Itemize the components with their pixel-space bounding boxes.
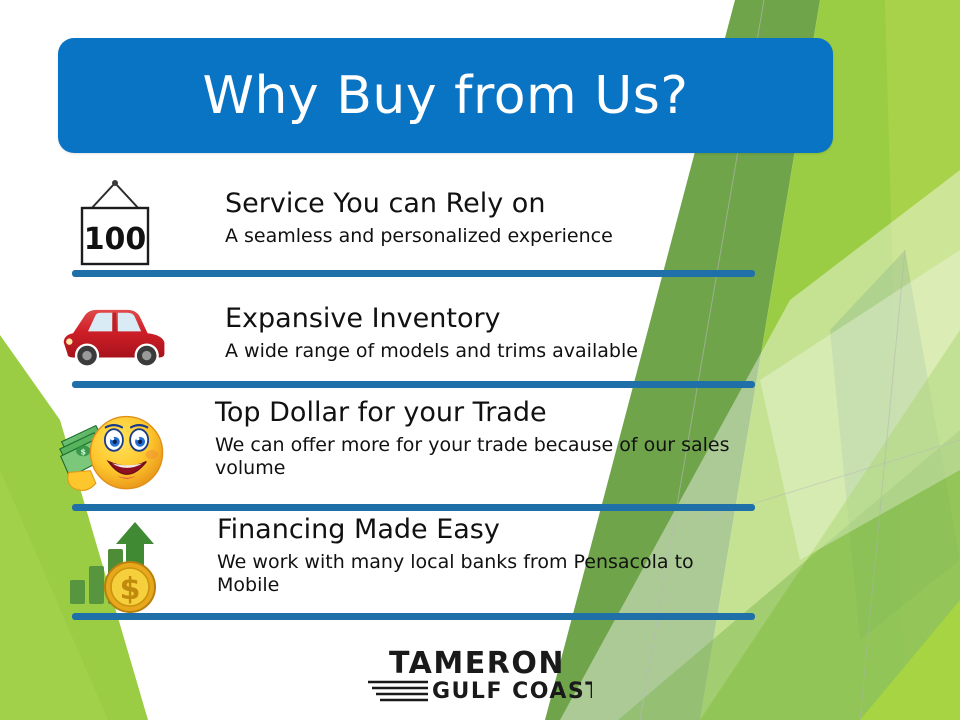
right-green-panel-light bbox=[885, 0, 960, 720]
price-tag-value: 100 bbox=[84, 222, 147, 257]
feature-title: Top Dollar for your Trade bbox=[215, 398, 745, 428]
feature-divider bbox=[72, 381, 755, 388]
feature-subtitle: We can offer more for your trade because… bbox=[215, 434, 745, 480]
hairline-3 bbox=[860, 250, 905, 720]
page-title: Why Buy from Us? bbox=[203, 70, 689, 122]
feature-row-service: 100 Service You can Rely on A seamless a… bbox=[60, 175, 820, 270]
feature-divider bbox=[72, 504, 755, 511]
feature-text-block: Expansive Inventory A wide range of mode… bbox=[225, 304, 638, 363]
feature-divider bbox=[72, 270, 755, 277]
right-green-panel-deep bbox=[830, 250, 960, 640]
feature-text-block: Top Dollar for your Trade We can offer m… bbox=[215, 398, 745, 480]
feature-title: Service You can Rely on bbox=[225, 189, 613, 219]
smiley-with-money-icon: $ bbox=[58, 396, 168, 501]
logo-name-top: TAMERON bbox=[389, 646, 565, 681]
title-banner: Why Buy from Us? bbox=[58, 38, 833, 153]
tameron-gulf-coast-logo: TAMERON GULF COAST bbox=[352, 640, 602, 710]
feature-subtitle: We work with many local banks from Pensa… bbox=[217, 551, 747, 597]
feature-text-block: Financing Made Easy We work with many lo… bbox=[217, 515, 747, 597]
feature-row-trade: $ bbox=[50, 396, 820, 501]
feature-subtitle: A seamless and personalized experience bbox=[225, 225, 613, 248]
logo-name-bottom: GULF COAST bbox=[432, 679, 592, 704]
feature-title: Financing Made Easy bbox=[217, 515, 747, 545]
price-tag-100-icon: 100 bbox=[60, 175, 170, 270]
feature-row-inventory: Expansive Inventory A wide range of mode… bbox=[60, 288, 820, 383]
feature-subtitle: A wide range of models and trims availab… bbox=[225, 340, 638, 363]
feature-divider bbox=[72, 613, 755, 620]
red-car-icon bbox=[60, 288, 170, 383]
overlay-wedge-bottom bbox=[860, 600, 960, 720]
coin-dollar-sign: $ bbox=[120, 572, 141, 607]
feature-title: Expansive Inventory bbox=[225, 304, 638, 334]
slide-canvas: Why Buy from Us? 100 Service You can Rel… bbox=[0, 0, 960, 720]
svg-text:$: $ bbox=[80, 446, 86, 456]
feature-row-financing: $ Financing Made Easy We work with many … bbox=[52, 512, 822, 617]
feature-text-block: Service You can Rely on A seamless and p… bbox=[225, 189, 613, 248]
growth-chart-coin-icon: $ bbox=[60, 512, 170, 620]
logo-stripes bbox=[368, 682, 428, 700]
